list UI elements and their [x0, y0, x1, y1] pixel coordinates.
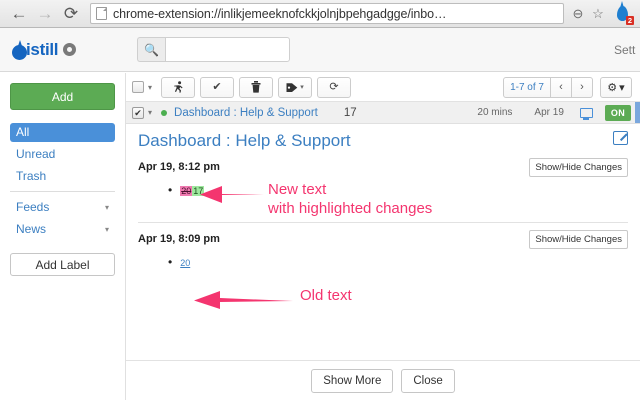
show-hide-changes-button[interactable]: Show/Hide Changes — [529, 230, 628, 249]
label-button[interactable]: ▾ — [278, 77, 312, 98]
zoom-out-icon[interactable]: ⊖ — [568, 6, 588, 22]
sidebar-item-unread[interactable]: Unread — [10, 145, 115, 164]
bullet-icon: • — [168, 256, 172, 268]
tag-icon — [286, 82, 298, 93]
entry-timestamp: Apr 19, 8:12 pm — [138, 161, 220, 173]
star-icon[interactable]: ☆ — [588, 6, 608, 22]
entry-timestamp: Apr 19, 8:09 pm — [138, 233, 220, 245]
search-input[interactable] — [165, 37, 290, 62]
sidebar-item-news[interactable]: News ▾ — [10, 220, 115, 239]
chevron-down-icon: ▾ — [619, 81, 625, 94]
row-checkbox[interactable]: ✔ — [132, 107, 144, 119]
row-date: Apr 19 — [534, 107, 563, 118]
show-more-button[interactable]: Show More — [311, 369, 393, 393]
edit-pencil-icon[interactable] — [613, 131, 628, 145]
row-count: 17 — [344, 107, 357, 119]
row-chevron-icon[interactable]: ▾ — [148, 108, 152, 117]
diff-deleted-text: 20 — [180, 186, 192, 196]
runner-icon — [173, 81, 184, 93]
refresh-button[interactable]: ⟳ — [317, 77, 351, 98]
distill-droplet-icon — [12, 40, 27, 60]
row-title[interactable]: Dashboard : Help & Support — [174, 107, 318, 119]
list-item: • 20 — [168, 256, 628, 268]
sidebar: Add All Unread Trash Feeds ▾ News ▾ Add … — [0, 73, 125, 400]
entry-header: Apr 19, 8:09 pm Show/Hide Changes — [138, 230, 628, 248]
main-panel: ▾ ✔ — [125, 73, 640, 400]
annotation-arrow-new — [196, 182, 266, 206]
checkmark-icon: ✔ — [212, 82, 221, 93]
sidebar-item-label: All — [16, 123, 29, 142]
sidebar-item-label: Unread — [16, 145, 55, 164]
reload-icon[interactable]: ⟳ — [58, 1, 84, 27]
entry-header: Apr 19, 8:12 pm Show/Hide Changes — [138, 158, 628, 176]
distill-extension-icon[interactable]: 2 — [610, 1, 634, 27]
extension-badge-count: 2 — [626, 16, 634, 25]
status-badge[interactable]: ON — [605, 105, 631, 121]
monitor-icon[interactable] — [580, 108, 593, 118]
browser-toolbar: ← → ⟳ chrome-extension://inlikjemeeknofc… — [0, 0, 640, 28]
scrollbar-thumb[interactable] — [635, 102, 640, 123]
sidebar-item-label: News — [16, 220, 46, 239]
settings-gear-button[interactable]: ⚙ ▾ — [600, 77, 632, 98]
app-header: istill 🔍 Sett — [0, 28, 640, 72]
chevron-down-icon[interactable]: ▾ — [105, 198, 109, 217]
sidebar-item-all[interactable]: All — [10, 123, 115, 142]
list-toolbar: ▾ ✔ — [126, 73, 640, 102]
chevron-down-icon[interactable]: ▾ — [105, 220, 109, 239]
page-document-icon — [96, 7, 107, 20]
chrome-icon — [63, 43, 76, 56]
show-hide-changes-button[interactable]: Show/Hide Changes — [529, 158, 628, 177]
delete-button[interactable] — [239, 77, 273, 98]
annotation-arrow-old — [190, 288, 295, 312]
brand-name: istill — [26, 40, 58, 60]
next-page-button[interactable]: › — [572, 77, 593, 98]
sidebar-divider — [10, 191, 115, 192]
app-root: ← → ⟳ chrome-extension://inlikjemeeknofc… — [0, 0, 640, 400]
refresh-icon: ⟳ — [329, 82, 338, 93]
status-dot-icon — [161, 110, 167, 116]
old-value-link[interactable]: 20 — [180, 258, 190, 268]
address-bar-url: chrome-extension://inlikjemeeknofckkjoln… — [113, 7, 446, 21]
search-icon: 🔍 — [137, 37, 165, 62]
sidebar-item-feeds[interactable]: Feeds ▾ — [10, 198, 115, 217]
select-all-checkbox[interactable] — [132, 81, 144, 93]
sidebar-nav: All Unread Trash Feeds ▾ News ▾ — [10, 123, 115, 239]
select-all-chevron-icon[interactable]: ▾ — [148, 83, 152, 92]
entry-body: • 20 — [138, 248, 628, 282]
sidebar-item-trash[interactable]: Trash — [10, 167, 115, 186]
trash-icon — [251, 81, 261, 93]
pagination-count: 1-7 of 7 — [503, 77, 551, 98]
change-entry-old: Apr 19, 8:09 pm Show/Hide Changes • 20 — [138, 230, 628, 282]
gear-icon: ⚙ — [607, 81, 617, 94]
row-age: 20 mins — [477, 107, 512, 118]
entry-divider — [138, 222, 628, 223]
table-row[interactable]: ✔ ▾ Dashboard : Help & Support 17 20 min… — [126, 102, 640, 124]
add-button[interactable]: Add — [10, 83, 115, 110]
add-label-button[interactable]: Add Label — [10, 253, 115, 276]
run-now-button[interactable] — [161, 77, 195, 98]
sidebar-item-label: Trash — [16, 167, 46, 186]
search-box[interactable]: 🔍 — [137, 37, 290, 62]
forward-arrow-icon[interactable]: → — [32, 1, 58, 27]
prev-page-button[interactable]: ‹ — [551, 77, 572, 98]
content-header: Dashboard : Help & Support — [138, 131, 628, 151]
back-arrow-icon[interactable]: ← — [6, 1, 32, 27]
sidebar-item-label: Feeds — [16, 198, 49, 217]
close-button[interactable]: Close — [401, 369, 454, 393]
settings-link[interactable]: Sett — [614, 43, 640, 57]
address-bar[interactable]: chrome-extension://inlikjemeeknofckkjoln… — [90, 3, 564, 24]
mark-read-button[interactable]: ✔ — [200, 77, 234, 98]
chevron-down-icon: ▾ — [300, 83, 304, 91]
bullet-icon: • — [168, 184, 172, 196]
brand-logo: istill — [0, 40, 125, 60]
page-title: Dashboard : Help & Support — [138, 131, 351, 151]
toolbar-right-group: 1-7 of 7 ‹ › ⚙ ▾ — [503, 77, 632, 98]
content-footer: Show More Close — [126, 360, 640, 400]
